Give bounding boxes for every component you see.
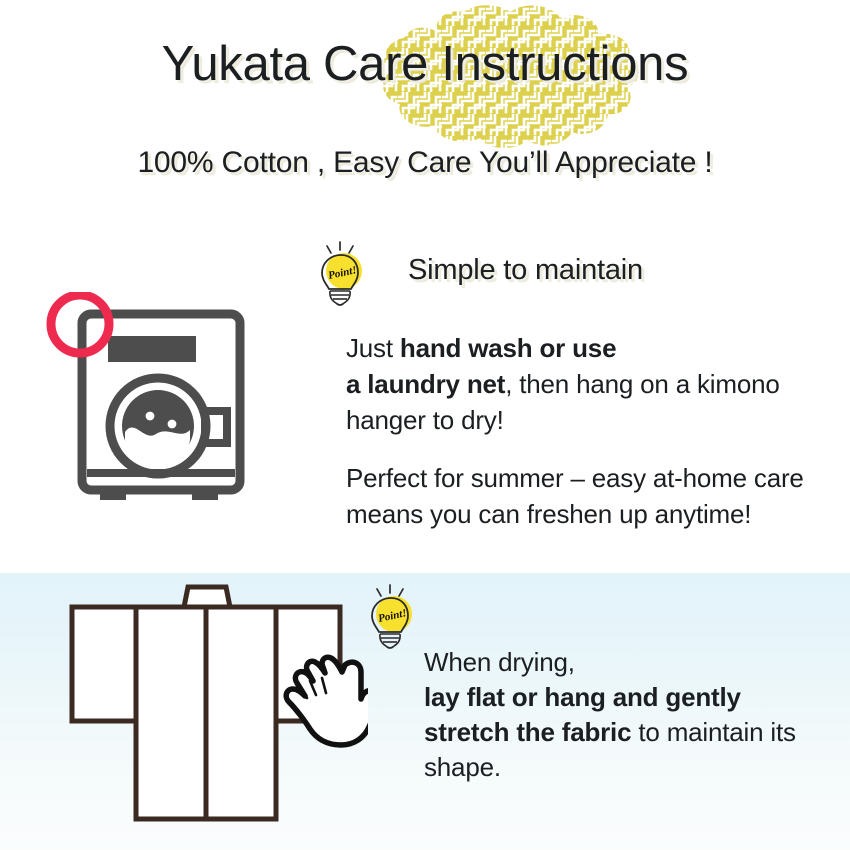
dry-section: Point! When drying,lay flat or hang and … (0, 573, 850, 850)
wash-p1-bold-1: hand wash or use (400, 333, 616, 363)
dry-lead: When drying, (424, 647, 575, 677)
wash-p1-bold-2: a laundry net (346, 369, 505, 399)
hand-pull-icon (286, 657, 368, 745)
wash-heading: Simple to maintain (408, 254, 643, 287)
kimono-body-panel-right (206, 607, 276, 819)
washer-bubble-eye-left (146, 412, 155, 421)
page-title: Yukata Care Instructions (0, 40, 850, 89)
wash-p1-lead: Just (346, 333, 400, 363)
kimono-sleeve-left (72, 607, 136, 721)
dry-body-text: When drying,lay flat or hang and gentlys… (424, 645, 844, 785)
washer-control-panel (108, 336, 196, 362)
kimono-collar-tab (184, 587, 230, 607)
bulb-rays-icon-2 (377, 585, 403, 596)
header-section: Yukata Care Instructions 100% Cotton , E… (0, 0, 850, 212)
wash-paragraph-2: Perfect for summer – easy at-home care m… (346, 460, 844, 532)
kimono-body-panel-left (136, 607, 206, 819)
dry-bold-1: lay flat or hang and gently (424, 682, 741, 712)
wash-body-text: Just hand wash or usea laundry net, then… (346, 330, 844, 532)
bulb-rays-icon (327, 242, 353, 253)
washer-bubble-eye-right (168, 420, 177, 429)
kimono-illustration (58, 577, 368, 832)
wash-section: Point! Simple to maintain Just hand wash… (0, 212, 850, 573)
bulb-screw-base (330, 291, 350, 305)
washer-foot-right (192, 490, 218, 500)
wash-paragraph-1: Just hand wash or usea laundry net, then… (346, 330, 844, 438)
point-bulb-icon-2: Point! (360, 583, 422, 655)
washer-foot-left (100, 490, 126, 500)
page-subtitle: 100% Cotton , Easy Care You’ll Appreciat… (0, 148, 850, 178)
washing-machine-illustration (32, 292, 282, 542)
yukata-care-infographic: Yukata Care Instructions 100% Cotton , E… (0, 0, 850, 850)
point-bulb-icon: Point! (310, 240, 372, 312)
dry-bold-2: stretch the fabric (424, 717, 631, 747)
bulb-screw-base-2 (380, 634, 400, 648)
